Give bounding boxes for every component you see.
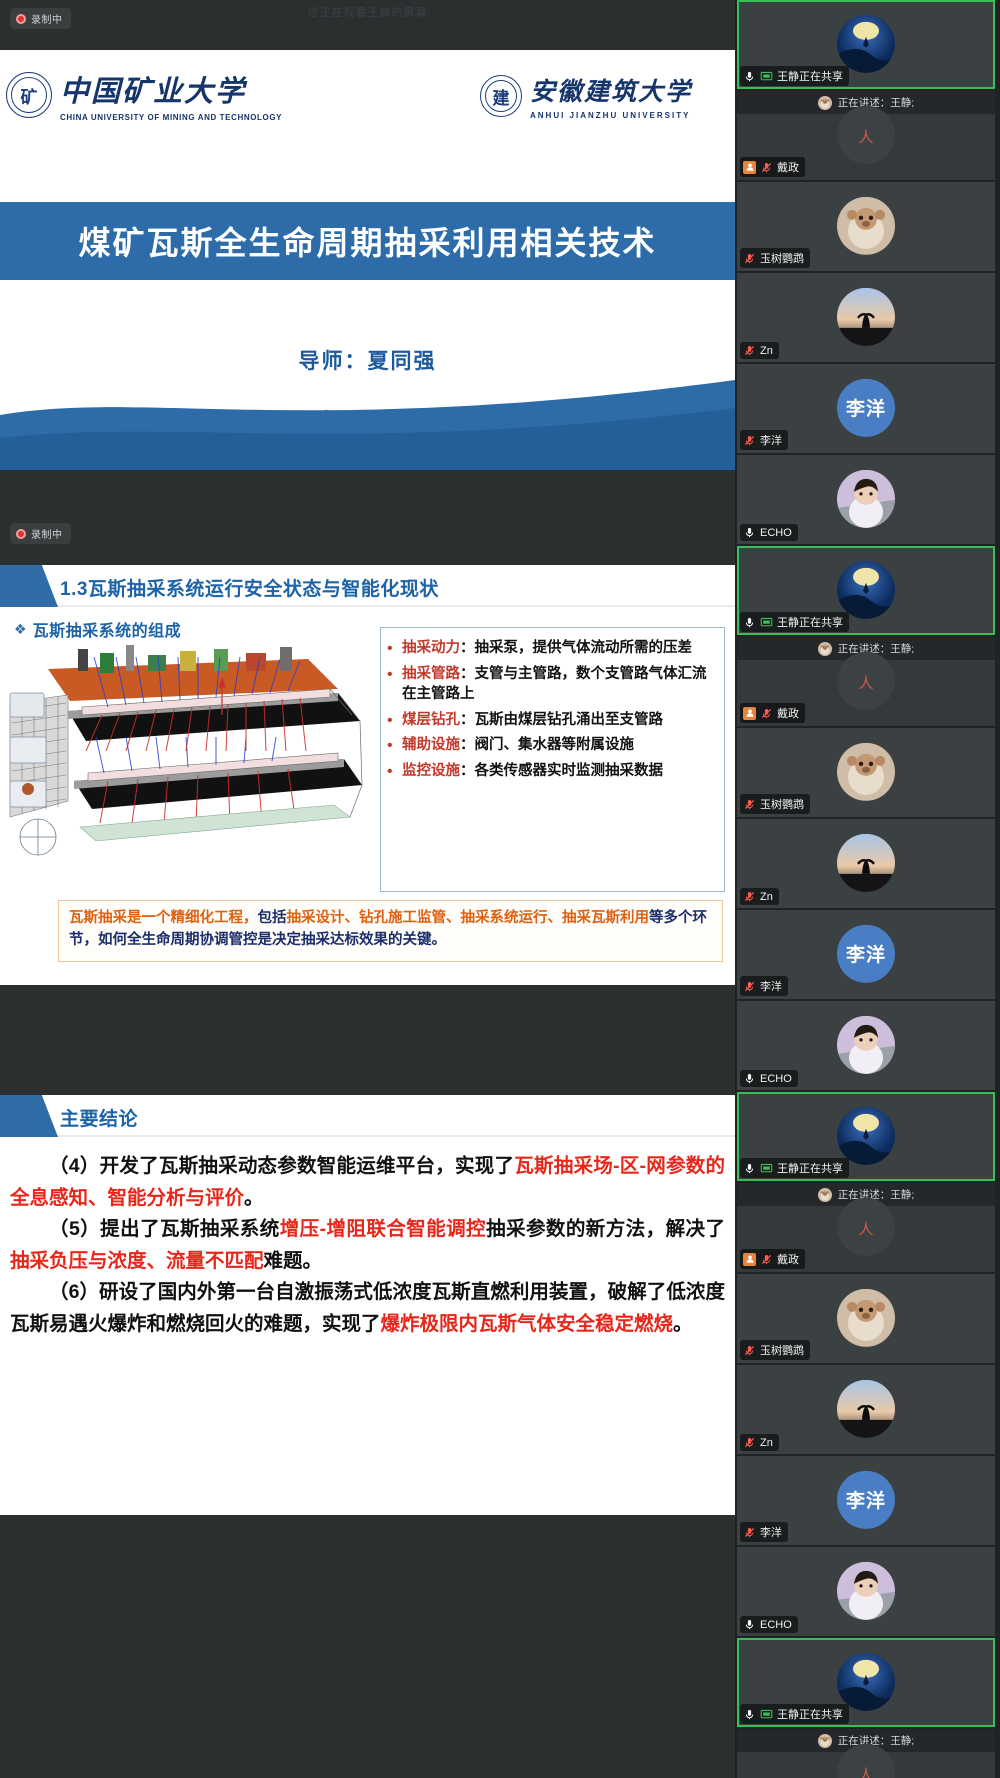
avatar [837, 1015, 895, 1073]
mic-on-icon [743, 616, 756, 629]
callout-text: 瓦斯抽采是一个精细化工程，包括抽采设计、钻孔施工监管、抽采系统运行、抽采瓦斯利用… [69, 908, 712, 952]
mine-drainage-diagram [8, 641, 364, 881]
record-dot-icon-2 [16, 529, 26, 539]
shared-screen-stage: 您正在观看王静的屏幕 录制中 矿 中国矿业大学 CHINA UNIVERSITY… [0, 0, 735, 1778]
participant-name-bar: 玉树鹦鹉 [740, 794, 810, 814]
avatar-image [837, 1106, 895, 1164]
slide-main-conclusions[interactable]: 主要结论 （4）开发了瓦斯抽采动态参数智能运维平台，实现了瓦斯抽采场-区-网参数… [0, 1095, 735, 1515]
participant-name: 玉树鹦鹉 [760, 250, 804, 266]
active-speaker-avatar [818, 642, 832, 656]
list-item: • 抽采动力：抽采泵，提供气体流动所需的压差 [387, 638, 714, 659]
host-badge-icon [743, 161, 756, 174]
avatar-image [837, 833, 895, 891]
avatar [837, 1288, 895, 1346]
participant-name: ECHO [760, 1073, 792, 1085]
participant-name: Zn [760, 1437, 773, 1449]
participant-tile[interactable]: Zn [737, 273, 995, 362]
component-text: 监控设施：各类传感器实时监测抽采数据 [402, 761, 663, 782]
avatar-image [818, 96, 832, 110]
svg-text:人: 人 [858, 128, 873, 145]
avatar-image [837, 742, 895, 800]
record-dot-icon [16, 14, 26, 24]
bullet-dot-icon: • [387, 638, 395, 659]
mine-diagram-svg [8, 641, 364, 881]
avatar [837, 196, 895, 254]
participant-name: 王静正在共享 [777, 1706, 843, 1722]
participant-tile[interactable]: 正在讲述：王静; 人 戴政 [737, 637, 995, 726]
host-badge-icon [743, 707, 756, 720]
host-badge-icon [743, 1253, 756, 1266]
ahjzu-name-en: ANHUI JIANZHU UNIVERSITY [530, 111, 692, 120]
list-item: • 监控设施：各类传感器实时监测抽采数据 [387, 761, 714, 782]
diamond-bullet-icon: ❖ [14, 621, 27, 638]
list-item: • 辅助设施：阀门、集水器等附属设施 [387, 735, 714, 756]
meeting-screen: 您正在观看王静的屏幕 录制中 矿 中国矿业大学 CHINA UNIVERSITY… [0, 0, 1000, 1778]
avatar-image [837, 1015, 895, 1073]
slide3-header-text: 主要结论 [60, 1104, 138, 1131]
recording-indicator-1: 录制中 [10, 8, 71, 29]
active-speaker-avatar [818, 1734, 832, 1748]
avatar: 李洋 [837, 1470, 895, 1528]
recording-label-2: 录制中 [31, 526, 63, 541]
mic-muted-icon [760, 1253, 773, 1266]
participant-name-bar: Zn [740, 342, 779, 359]
avatar: 人 [837, 651, 895, 709]
participant-tile[interactable]: 王静正在共享 [737, 0, 995, 89]
participant-name-bar: Zn [740, 1434, 779, 1451]
avatar [837, 560, 895, 618]
mic-muted-icon [743, 252, 756, 265]
svg-text:人: 人 [858, 1766, 873, 1778]
avatar-image: 人 [837, 651, 895, 709]
participant-tile[interactable]: 王静正在共享 [737, 546, 995, 635]
participant-tile[interactable]: 李洋 李洋 [737, 1456, 995, 1545]
participant-name: 戴政 [777, 159, 799, 175]
avatar: 李洋 [837, 924, 895, 982]
participant-name: Zn [760, 345, 773, 357]
avatar-image [837, 1379, 895, 1437]
participant-name: 李洋 [760, 432, 782, 448]
avatar-image [837, 287, 895, 345]
mic-muted-icon [743, 1526, 756, 1539]
mic-muted-icon [743, 890, 756, 903]
bullet-dot-icon: • [387, 710, 395, 731]
cumt-name-en: CHINA UNIVERSITY OF MINING AND TECHNOLOG… [60, 113, 282, 122]
bullet-dot-icon: • [387, 761, 395, 782]
participant-name-bar: 王静正在共享 [740, 66, 849, 86]
slide1-logo-bar: 矿 中国矿业大学 CHINA UNIVERSITY OF MINING AND … [0, 50, 735, 142]
participant-name-bar: 戴政 [740, 1249, 805, 1269]
participant-tile[interactable]: ECHO [737, 455, 995, 544]
avatar-image [837, 196, 895, 254]
slide2-section-bullet: ❖ 瓦斯抽采系统的组成 [14, 617, 181, 641]
cumt-seal-icon: 矿 [6, 72, 52, 118]
participant-tile[interactable]: Zn [737, 1365, 995, 1454]
participant-name-bar: 戴政 [740, 703, 805, 723]
conclusion-paragraph: （6）研设了国内外第一台自激振荡式低浓度瓦斯直燃利用装置，破解了低浓度瓦斯易遇火… [10, 1277, 725, 1340]
system-components-list: • 抽采动力：抽采泵，提供气体流动所需的压差 • 抽采管路：支管与主管路，数个支… [387, 638, 714, 781]
participant-name-bar: ECHO [740, 1070, 798, 1087]
list-item: • 煤层钻孔：瓦斯由煤层钻孔涌出至支管路 [387, 710, 714, 731]
presentation-title: 煤矿瓦斯全生命周期抽采利用相关技术 [78, 218, 656, 264]
logo-cumt: 矿 中国矿业大学 CHINA UNIVERSITY OF MINING AND … [6, 68, 282, 122]
participant-name-bar: 王静正在共享 [740, 1704, 849, 1724]
slide2-callout-box: 瓦斯抽采是一个精细化工程，包括抽采设计、钻孔施工监管、抽采系统运行、抽采瓦斯利用… [58, 900, 723, 962]
participant-tile[interactable]: 玉树鹦鹉 [737, 728, 995, 817]
avatar-image [818, 1734, 832, 1748]
header-accent-shape [0, 565, 58, 607]
participant-name: ECHO [760, 1619, 792, 1631]
participant-name-bar: 李洋 [740, 430, 788, 450]
participant-tile[interactable]: 李洋 李洋 [737, 910, 995, 999]
avatar [837, 1561, 895, 1619]
logo-ahjzu: 建 安徽建筑大学 ANHUI JIANZHU UNIVERSITY [480, 72, 692, 120]
mic-muted-icon [760, 161, 773, 174]
mic-muted-icon [743, 434, 756, 447]
participant-name-bar: 玉树鹦鹉 [740, 248, 810, 268]
component-text: 辅助设施：阀门、集水器等附属设施 [402, 735, 634, 756]
recording-label: 录制中 [31, 11, 63, 26]
slide-title[interactable]: 矿 中国矿业大学 CHINA UNIVERSITY OF MINING AND … [0, 50, 735, 470]
avatar-image [837, 1652, 895, 1710]
bullet-dot-icon: • [387, 735, 395, 756]
conclusion-paragraph: （4）开发了瓦斯抽采动态参数智能运维平台，实现了瓦斯抽采场-区-网参数的全息感知… [10, 1151, 725, 1214]
component-text: 抽采管路：支管与主管路，数个支管路气体汇流在主管路上 [402, 664, 714, 705]
header-accent-shape-3 [0, 1095, 58, 1137]
bullet-dot-icon: • [387, 664, 395, 705]
participant-name: Zn [760, 891, 773, 903]
avatar: 人 [837, 105, 895, 163]
avatar-image [837, 1561, 895, 1619]
avatar-image: 人 [837, 1197, 895, 1255]
participant-name-bar: ECHO [740, 1616, 798, 1633]
participant-name: 李洋 [760, 1524, 782, 1540]
participant-name-bar: 王静正在共享 [740, 612, 849, 632]
participant-tile[interactable]: 正在讲述：王静; 人 戴政 [737, 1183, 995, 1272]
active-speaker-avatar [818, 96, 832, 110]
participant-name: 戴政 [777, 1251, 799, 1267]
participant-name-bar: ECHO [740, 524, 798, 541]
mic-muted-icon [743, 1344, 756, 1357]
participant-tile[interactable]: 王静正在共享 [737, 1638, 995, 1727]
component-text: 煤层钻孔：瓦斯由煤层钻孔涌出至支管路 [402, 710, 663, 731]
participant-name: 王静正在共享 [777, 68, 843, 84]
avatar-image [818, 642, 832, 656]
ahjzu-name-cn: 安徽建筑大学 [530, 72, 692, 108]
avatar-image [837, 14, 895, 72]
slide3-header: 主要结论 [0, 1095, 735, 1137]
participant-tile[interactable]: 李洋 李洋 [737, 364, 995, 453]
avatar [837, 1379, 895, 1437]
avatar [837, 1652, 895, 1710]
participant-name-bar: 王静正在共享 [740, 1158, 849, 1178]
participant-name-bar: 李洋 [740, 976, 788, 996]
slide2-header: 1.3瓦斯抽采系统运行安全状态与智能化现状 [0, 565, 735, 607]
mic-on-icon [743, 70, 756, 83]
avatar [837, 833, 895, 891]
participant-name: 玉树鹦鹉 [760, 1342, 804, 1358]
decorative-wave [0, 360, 735, 470]
screen-share-icon [760, 616, 773, 629]
mic-on-icon [743, 1708, 756, 1721]
participant-tile[interactable]: ECHO [737, 1547, 995, 1636]
mic-on-icon [743, 1162, 756, 1175]
avatar: 人 [837, 1197, 895, 1255]
avatar [837, 14, 895, 72]
mic-on-icon [743, 1072, 756, 1085]
avatar [837, 742, 895, 800]
participant-tile[interactable]: 玉树鹦鹉 [737, 1274, 995, 1363]
participant-name-bar: 戴政 [740, 157, 805, 177]
participant-tile[interactable]: 正在讲述：王静; 人 戴政 [737, 91, 995, 180]
svg-text:人: 人 [858, 1220, 873, 1237]
participant-name: 戴政 [777, 705, 799, 721]
slide1-title-banner: 煤矿瓦斯全生命周期抽采利用相关技术 [0, 202, 735, 280]
mic-on-icon [743, 526, 756, 539]
screen-share-icon [760, 1162, 773, 1175]
list-item: • 抽采管路：支管与主管路，数个支管路气体汇流在主管路上 [387, 664, 714, 705]
system-components-card: • 抽采动力：抽采泵，提供气体流动所需的压差 • 抽采管路：支管与主管路，数个支… [380, 627, 725, 892]
slide2-section-label: 瓦斯抽采系统的组成 [33, 617, 182, 641]
conclusion-paragraph: （5）提出了瓦斯抽采系统增压-增阻联合智能调控抽采参数的新方法，解决了抽采负压与… [10, 1214, 725, 1277]
avatar-image [837, 469, 895, 527]
participant-tile[interactable]: ECHO [737, 1001, 995, 1090]
screen-share-icon [760, 1708, 773, 1721]
mic-muted-icon [743, 1436, 756, 1449]
avatar-image [818, 1188, 832, 1202]
recording-indicator-2: 录制中 [10, 523, 71, 544]
slide-gas-drainage-system[interactable]: 1.3瓦斯抽采系统运行安全状态与智能化现状 ❖ 瓦斯抽采系统的组成 [0, 565, 735, 985]
participant-rail[interactable]: 王静正在共享 正在讲述：王静; 人 戴政 玉树鹦鹉 [735, 0, 1000, 1778]
avatar [837, 1106, 895, 1164]
mic-muted-icon [743, 798, 756, 811]
participant-tile[interactable]: 正在讲述：王静; 人 戴政 [737, 1729, 995, 1778]
screen-share-icon [760, 70, 773, 83]
svg-text:人: 人 [858, 674, 873, 691]
participant-name-bar: 李洋 [740, 1522, 788, 1542]
component-text: 抽采动力：抽采泵，提供气体流动所需的压差 [402, 638, 692, 659]
participant-name: 玉树鹦鹉 [760, 796, 804, 812]
mic-muted-icon [743, 344, 756, 357]
mic-muted-icon [743, 980, 756, 993]
participant-tile[interactable]: Zn [737, 819, 995, 908]
avatar [837, 287, 895, 345]
participant-name: 王静正在共享 [777, 1160, 843, 1176]
participant-name: ECHO [760, 527, 792, 539]
participant-name: 王静正在共享 [777, 614, 843, 630]
active-speaker-avatar [818, 1188, 832, 1202]
conclusions-body: （4）开发了瓦斯抽采动态参数智能运维平台，实现了瓦斯抽采场-区-网参数的全息感知… [0, 1137, 735, 1340]
participant-name: 李洋 [760, 978, 782, 994]
participant-name-bar: Zn [740, 888, 779, 905]
avatar [837, 469, 895, 527]
participant-name-bar: 玉树鹦鹉 [740, 1340, 810, 1360]
participant-tile[interactable]: 玉树鹦鹉 [737, 182, 995, 271]
ahjzu-seal-icon: 建 [480, 75, 522, 117]
avatar-image [837, 1288, 895, 1346]
mic-on-icon [743, 1618, 756, 1631]
avatar: 李洋 [837, 378, 895, 436]
avatar-image [837, 560, 895, 618]
cumt-name-cn: 中国矿业大学 [60, 68, 282, 110]
viewing-hint: 您正在观看王静的屏幕 [0, 4, 735, 20]
mic-muted-icon [760, 707, 773, 720]
slide2-header-text: 1.3瓦斯抽采系统运行安全状态与智能化现状 [60, 574, 439, 601]
avatar-image: 人 [837, 105, 895, 163]
participant-tile[interactable]: 王静正在共享 [737, 1092, 995, 1181]
